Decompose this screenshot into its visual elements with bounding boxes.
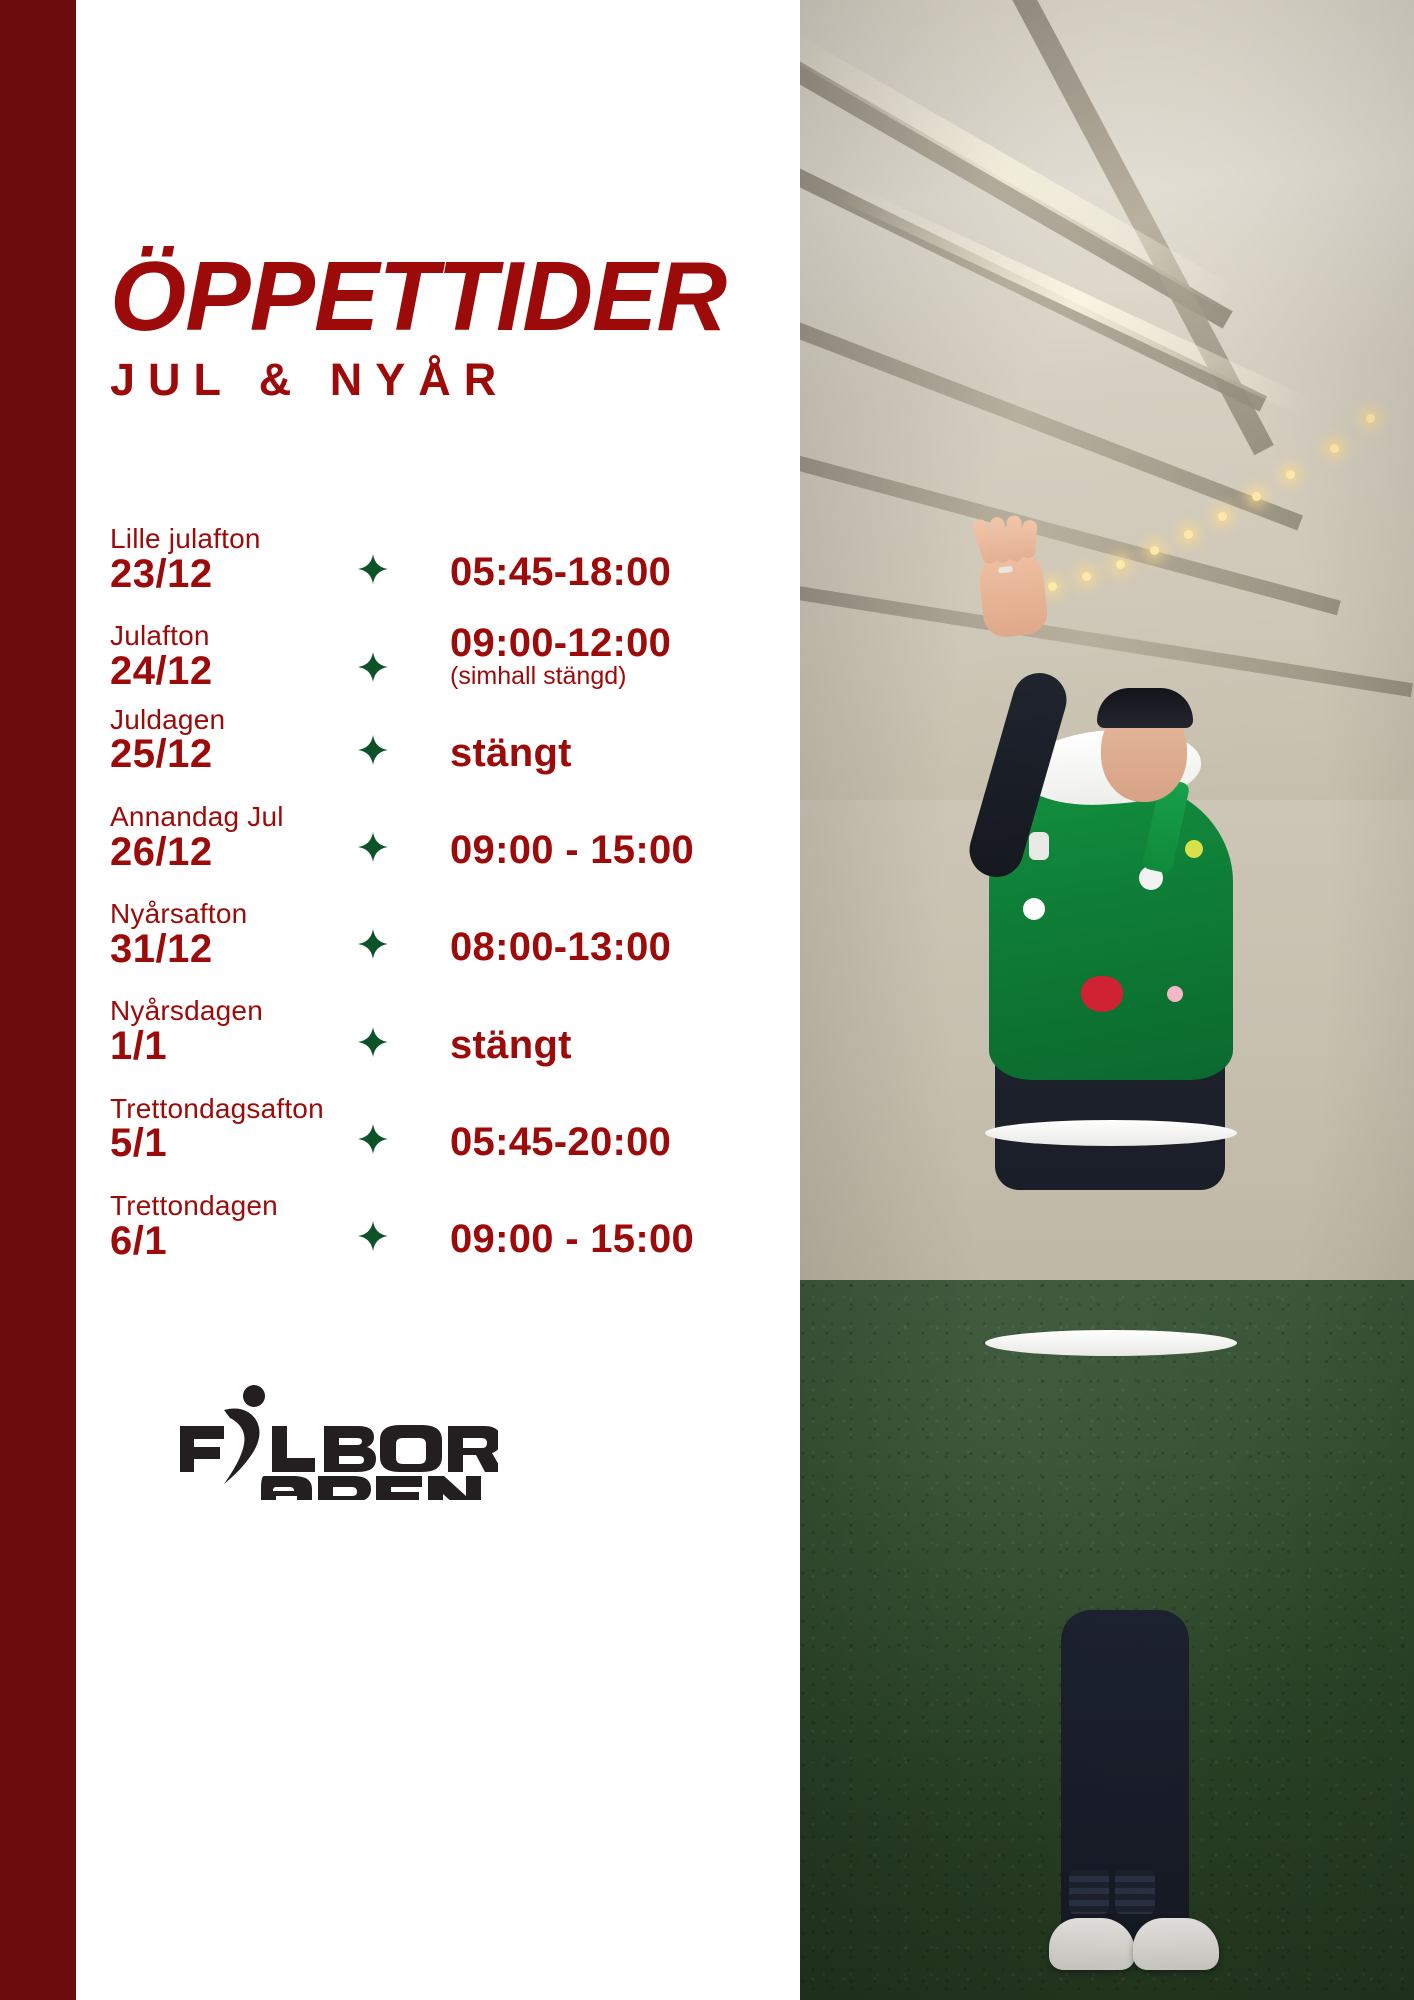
separator-cell xyxy=(358,832,450,873)
separator-cell xyxy=(358,1221,450,1262)
separator-cell xyxy=(358,735,450,776)
day-name: Juldagen xyxy=(110,705,358,735)
opening-time: stängt xyxy=(450,1024,800,1066)
day-name: Nyårsdagen xyxy=(110,996,358,1026)
day-cell: Juldagen25/12 xyxy=(110,705,358,776)
separator-cell xyxy=(358,929,450,970)
photo-vignette xyxy=(800,0,1414,2000)
time-cell: 08:00-13:00 xyxy=(450,926,800,970)
four-point-star-icon xyxy=(358,929,388,959)
content-panel: ÖPPETTIDER JUL & NYÅR Lille julafton23/1… xyxy=(0,0,800,2000)
schedule-row: Julafton24/1209:00-12:00(simhall stängd) xyxy=(110,621,800,692)
separator-cell xyxy=(358,1027,450,1068)
heading-block: ÖPPETTIDER JUL & NYÅR xyxy=(110,0,800,402)
day-date: 24/12 xyxy=(110,651,358,693)
four-point-star-icon xyxy=(358,1027,388,1057)
day-date: 23/12 xyxy=(110,554,358,596)
day-cell: Trettondagsafton5/1 xyxy=(110,1094,358,1165)
day-date: 5/1 xyxy=(110,1123,358,1165)
logo-icon xyxy=(168,1380,498,1500)
day-name: Annandag Jul xyxy=(110,802,358,832)
day-cell: Nyårsafton31/12 xyxy=(110,899,358,970)
schedule-row: Annandag Jul26/1209:00 - 15:00 xyxy=(110,802,800,873)
opening-time: stängt xyxy=(450,732,800,774)
opening-time: 09:00-12:00 xyxy=(450,622,800,664)
time-cell: 09:00 - 15:00 xyxy=(450,829,800,873)
opening-hours-list: Lille julafton23/1205:45-18:00Julafton24… xyxy=(110,524,800,1262)
schedule-row: Juldagen25/12stängt xyxy=(110,705,800,776)
opening-time: 08:00-13:00 xyxy=(450,926,800,968)
page-subtitle: JUL & NYÅR xyxy=(110,357,800,402)
poster: ÖPPETTIDER JUL & NYÅR Lille julafton23/1… xyxy=(0,0,1414,2000)
event-photo xyxy=(800,0,1414,2000)
day-date: 25/12 xyxy=(110,734,358,776)
day-cell: Annandag Jul26/12 xyxy=(110,802,358,873)
four-point-star-icon xyxy=(358,652,388,682)
separator-cell xyxy=(358,652,450,693)
opening-time: 09:00 - 15:00 xyxy=(450,829,800,871)
time-cell: stängt xyxy=(450,732,800,776)
day-date: 1/1 xyxy=(110,1026,358,1068)
day-name: Julafton xyxy=(110,621,358,651)
time-cell: 05:45-18:00 xyxy=(450,551,800,595)
day-name: Lille julafton xyxy=(110,524,358,554)
day-date: 6/1 xyxy=(110,1221,358,1263)
separator-cell xyxy=(358,1124,450,1165)
filborna-arena-logo xyxy=(168,1380,498,1500)
day-cell: Julafton24/12 xyxy=(110,621,358,692)
time-cell: stängt xyxy=(450,1024,800,1068)
day-cell: Lille julafton23/12 xyxy=(110,524,358,595)
four-point-star-icon xyxy=(358,1124,388,1154)
opening-time: 05:45-20:00 xyxy=(450,1121,800,1163)
schedule-row: Nyårsdagen1/1stängt xyxy=(110,996,800,1067)
four-point-star-icon xyxy=(358,735,388,765)
page-title: ÖPPETTIDER xyxy=(110,250,800,343)
time-note: (simhall stängd) xyxy=(450,663,800,691)
opening-time: 09:00 - 15:00 xyxy=(450,1218,800,1260)
opening-time: 05:45-18:00 xyxy=(450,551,800,593)
day-name: Trettondagsafton xyxy=(110,1094,358,1124)
schedule-row: Trettondagsafton5/105:45-20:00 xyxy=(110,1094,800,1165)
day-name: Nyårsafton xyxy=(110,899,358,929)
day-date: 26/12 xyxy=(110,832,358,874)
schedule-row: Nyårsafton31/1208:00-13:00 xyxy=(110,899,800,970)
separator-cell xyxy=(358,554,450,595)
schedule-row: Lille julafton23/1205:45-18:00 xyxy=(110,524,800,595)
day-date: 31/12 xyxy=(110,929,358,971)
day-cell: Trettondagen6/1 xyxy=(110,1191,358,1262)
time-cell: 05:45-20:00 xyxy=(450,1121,800,1165)
day-name: Trettondagen xyxy=(110,1191,358,1221)
time-cell: 09:00-12:00(simhall stängd) xyxy=(450,622,800,693)
day-cell: Nyårsdagen1/1 xyxy=(110,996,358,1067)
time-cell: 09:00 - 15:00 xyxy=(450,1218,800,1262)
left-accent-bar xyxy=(0,0,76,2000)
four-point-star-icon xyxy=(358,1221,388,1251)
four-point-star-icon xyxy=(358,554,388,584)
schedule-row: Trettondagen6/109:00 - 15:00 xyxy=(110,1191,800,1262)
four-point-star-icon xyxy=(358,832,388,862)
